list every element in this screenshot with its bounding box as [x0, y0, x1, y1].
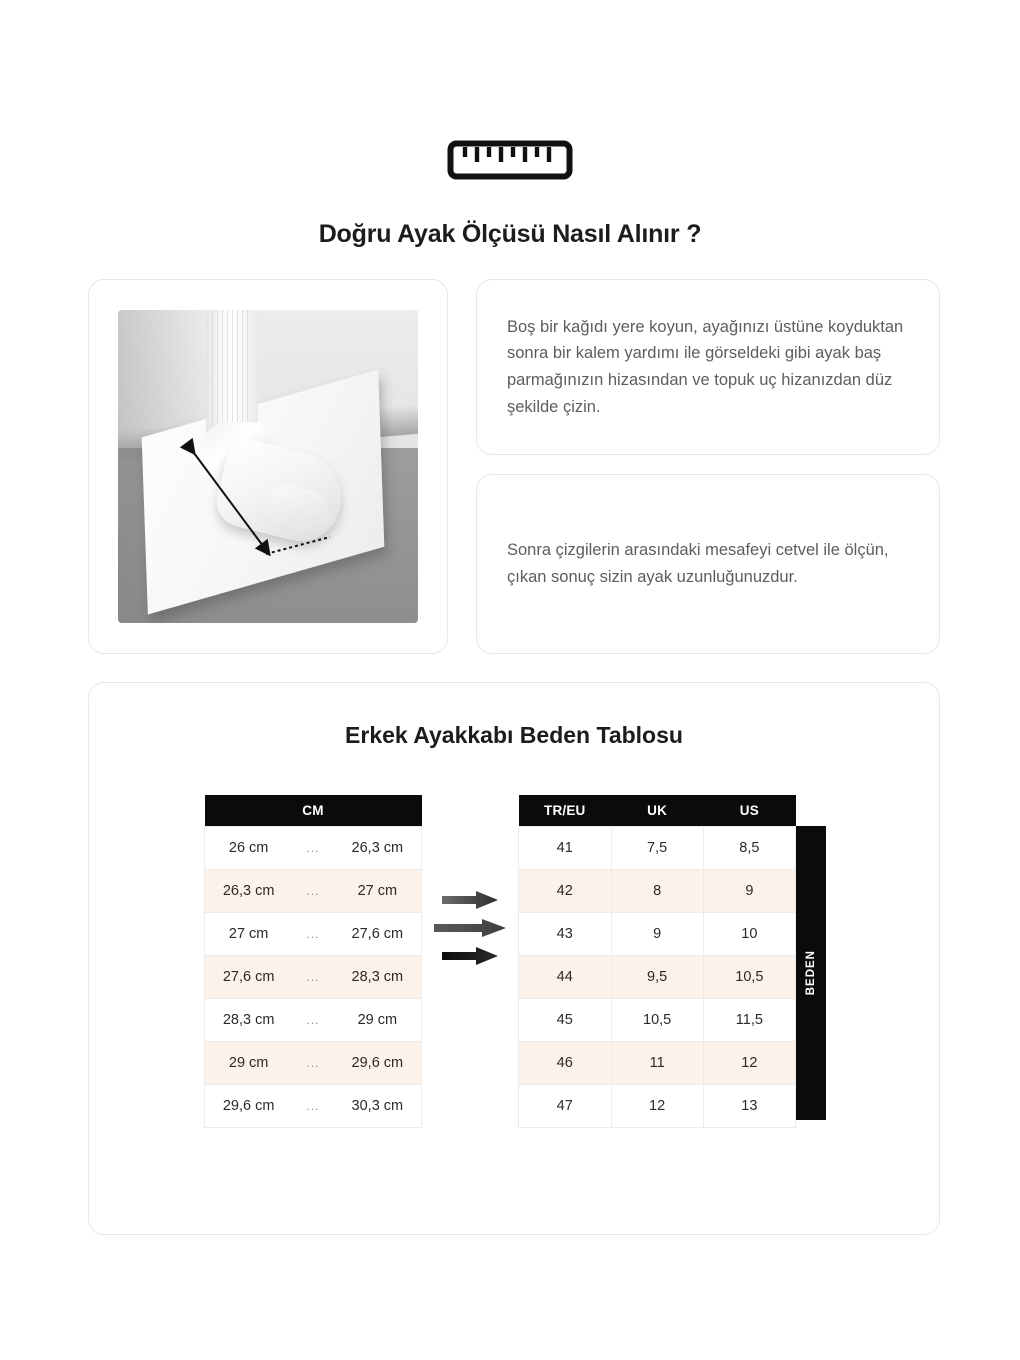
instruction-text-1: Boş bir kağıdı yere koyun, ayağınızı üst… [507, 314, 909, 421]
page-header: Doğru Ayak Ölçüsü Nasıl Alınır ? [0, 0, 1020, 249]
size-header-us: US [703, 795, 795, 827]
cm-from: 26,3 cm [205, 870, 293, 913]
cm-separator: ... [292, 913, 333, 956]
table-row: 43 9 10 [519, 913, 796, 956]
size-uk: 8 [611, 870, 703, 913]
cm-separator: ... [292, 827, 333, 870]
table-row: 26,3 cm ... 27 cm [205, 870, 422, 913]
cm-table: CM 26 cm ... 26,3 cm 26,3 cm ... 27 cm [204, 795, 422, 1128]
table-row: 46 11 12 [519, 1042, 796, 1085]
cm-to: 30,3 cm [334, 1085, 422, 1128]
cm-separator: ... [292, 999, 333, 1042]
cm-to: 26,3 cm [334, 827, 422, 870]
size-uk: 7,5 [611, 827, 703, 870]
cm-table-body: 26 cm ... 26,3 cm 26,3 cm ... 27 cm 27 c… [205, 827, 422, 1128]
size-table-body: 41 7,5 8,5 42 8 9 43 9 10 [519, 827, 796, 1128]
table-row: 29 cm ... 29,6 cm [205, 1042, 422, 1085]
cm-separator: ... [292, 1085, 333, 1128]
beden-side-label-bar: BEDEN [796, 826, 826, 1120]
cm-from: 29 cm [205, 1042, 293, 1085]
cm-from: 27 cm [205, 913, 293, 956]
instruction-card-2: Sonra çizgilerin arasındaki mesafeyi cet… [476, 474, 940, 654]
cm-to: 27,6 cm [334, 913, 422, 956]
cm-to: 29,6 cm [334, 1042, 422, 1085]
conversion-arrows [422, 795, 518, 965]
cm-to: 27 cm [334, 870, 422, 913]
table-row: 29,6 cm ... 30,3 cm [205, 1085, 422, 1128]
cm-from: 27,6 cm [205, 956, 293, 999]
measurement-arrow-icon [118, 310, 418, 623]
size-us: 10,5 [703, 956, 795, 999]
table-row: 27 cm ... 27,6 cm [205, 913, 422, 956]
table-row: 45 10,5 11,5 [519, 999, 796, 1042]
ruler-icon [447, 140, 573, 180]
table-row: 41 7,5 8,5 [519, 827, 796, 870]
foot-measurement-photo [118, 310, 418, 623]
size-treu: 41 [519, 827, 612, 870]
size-treu: 43 [519, 913, 612, 956]
foot-measurement-photo-card [88, 279, 448, 654]
instruction-text-2: Sonra çizgilerin arasındaki mesafeyi cet… [507, 537, 909, 590]
size-uk: 12 [611, 1085, 703, 1128]
size-uk: 9,5 [611, 956, 703, 999]
instruction-card-1: Boş bir kağıdı yere koyun, ayağınızı üst… [476, 279, 940, 455]
arrow-right-icon [442, 891, 498, 909]
instruction-cards: Boş bir kağıdı yere koyun, ayağınızı üst… [476, 279, 940, 654]
cm-separator: ... [292, 1042, 333, 1085]
table-row: 26 cm ... 26,3 cm [205, 827, 422, 870]
cm-table-header-row: CM [205, 795, 422, 827]
size-us: 11,5 [703, 999, 795, 1042]
size-us: 12 [703, 1042, 795, 1085]
arrow-right-icon [442, 947, 498, 965]
table-row: 28,3 cm ... 29 cm [205, 999, 422, 1042]
size-us: 10 [703, 913, 795, 956]
size-us: 8,5 [703, 827, 795, 870]
size-guide-page: Doğru Ayak Ölçüsü Nasıl Alınır ? [0, 0, 1020, 1360]
beden-label: BEDEN [805, 950, 817, 995]
cm-from: 26 cm [205, 827, 293, 870]
table-row: 42 8 9 [519, 870, 796, 913]
table-row: 47 12 13 [519, 1085, 796, 1128]
arrow-right-icon [434, 919, 506, 937]
size-chart-title: Erkek Ayakkabı Beden Tablosu [89, 683, 939, 749]
cm-to: 29 cm [334, 999, 422, 1042]
size-uk: 10,5 [611, 999, 703, 1042]
size-treu: 45 [519, 999, 612, 1042]
size-uk: 9 [611, 913, 703, 956]
instructions-section: Boş bir kağıdı yere koyun, ayağınızı üst… [88, 279, 940, 654]
size-header-uk: UK [611, 795, 703, 827]
size-treu: 47 [519, 1085, 612, 1128]
cm-from: 28,3 cm [205, 999, 293, 1042]
cm-from: 29,6 cm [205, 1085, 293, 1128]
page-title: Doğru Ayak Ölçüsü Nasıl Alınır ? [0, 220, 1020, 249]
cm-separator: ... [292, 956, 333, 999]
size-chart-card: Erkek Ayakkabı Beden Tablosu CM 26 cm ..… [88, 682, 940, 1235]
size-table-header-row: TR/EU UK US [519, 795, 796, 827]
size-uk: 11 [611, 1042, 703, 1085]
cm-separator: ... [292, 870, 333, 913]
size-treu: 44 [519, 956, 612, 999]
table-row: 44 9,5 10,5 [519, 956, 796, 999]
size-us: 13 [703, 1085, 795, 1128]
cm-header: CM [205, 795, 422, 827]
size-header-treu: TR/EU [519, 795, 612, 827]
size-chart-tables: CM 26 cm ... 26,3 cm 26,3 cm ... 27 cm [89, 795, 941, 1128]
size-us: 9 [703, 870, 795, 913]
size-treu: 42 [519, 870, 612, 913]
table-row: 27,6 cm ... 28,3 cm [205, 956, 422, 999]
size-treu: 46 [519, 1042, 612, 1085]
size-table: TR/EU UK US 41 7,5 8,5 42 8 9 [518, 795, 796, 1128]
cm-to: 28,3 cm [334, 956, 422, 999]
